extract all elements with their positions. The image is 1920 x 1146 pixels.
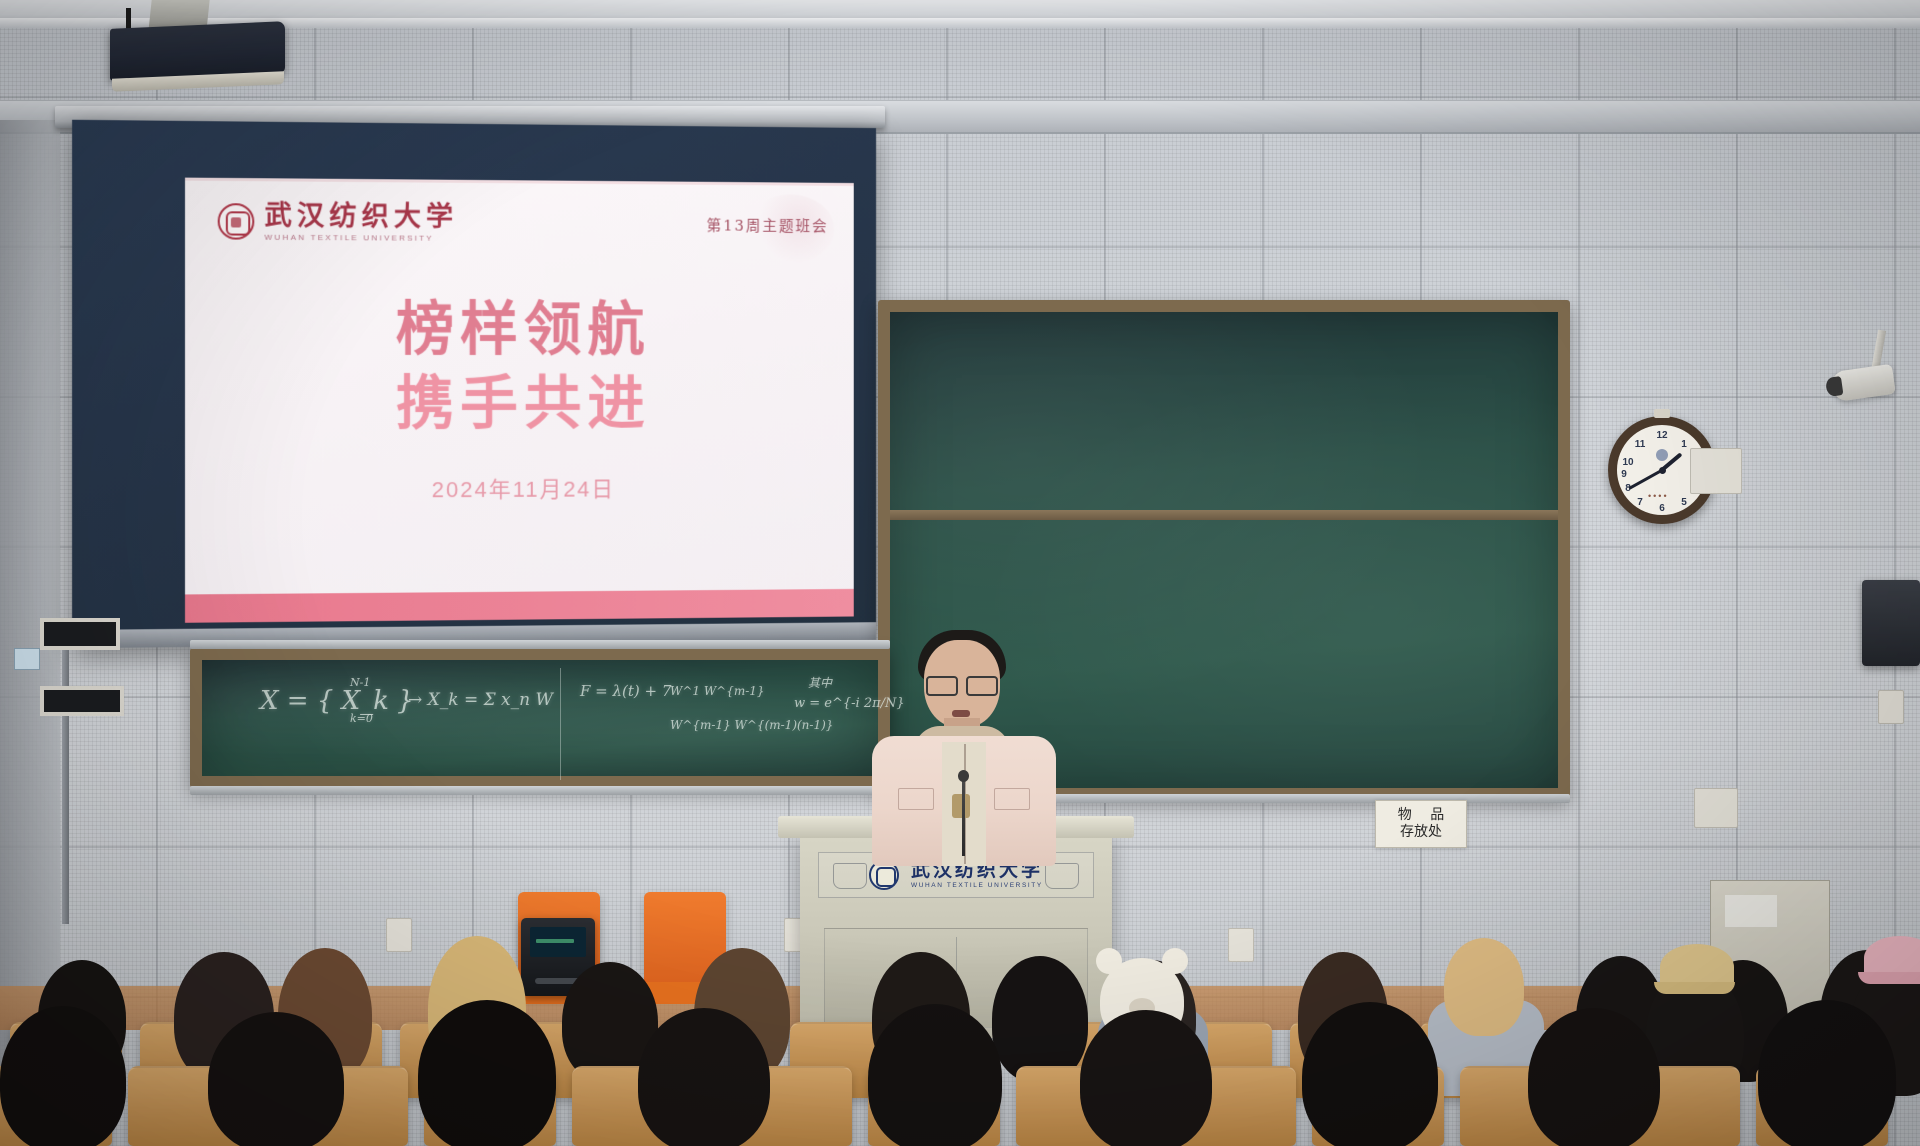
- lectern-university-en: WUHAN TEXTILE UNIVERSITY: [911, 882, 1043, 889]
- clock-center-pin: [1659, 467, 1666, 474]
- speaker-person: [866, 618, 1062, 858]
- person-hair: [1080, 1010, 1212, 1146]
- audience-person: [404, 1000, 568, 1146]
- projector: [110, 21, 285, 81]
- lecture-hall-photo: 武汉纺织大学 WUHAN TEXTILE UNIVERSITY 第13周主题班会…: [0, 0, 1920, 1146]
- audience-person: [1290, 1002, 1450, 1146]
- chalk-dust-lower: [202, 660, 878, 776]
- projection-screen: 武汉纺织大学 WUHAN TEXTILE UNIVERSITY 第13周主题班会…: [72, 120, 876, 648]
- cap-icon-pink: [1864, 936, 1920, 980]
- person-hair: [868, 1004, 1002, 1146]
- lectern-cup-icon-right: [1045, 863, 1079, 889]
- person-hair: [1302, 1002, 1438, 1146]
- wall-panel-right: [1690, 448, 1742, 494]
- university-seal-icon: [218, 203, 255, 240]
- audience-person: [196, 1012, 356, 1146]
- clock-hanger: [1654, 409, 1670, 418]
- wall-label-left: [14, 648, 40, 670]
- audience-person: [1744, 1000, 1908, 1146]
- cap-brim: [1654, 982, 1735, 994]
- glasses-icon: [926, 676, 998, 692]
- sign-line2: 存放处: [1400, 824, 1442, 842]
- chalk-ledge-lower: [190, 786, 890, 795]
- clock-num-7: 7: [1595, 497, 1685, 508]
- blackboard-lower: X = { X_k } N-1 k=0 → X_k = Σ x_n W F = …: [190, 648, 890, 788]
- ceiling-rail: [0, 18, 1920, 28]
- slide-header: 武汉纺织大学 WUHAN TEXTILE UNIVERSITY 第13周主题班会: [218, 198, 829, 248]
- slide-title: 榜样领航 携手共进: [185, 291, 854, 441]
- clock-num-11: 11: [1595, 439, 1685, 450]
- screen-support-left: [62, 624, 69, 924]
- university-name-zh: 武汉纺织大学: [264, 202, 458, 230]
- door-notice: [1725, 895, 1777, 927]
- wall-outlet-right: [1878, 690, 1904, 724]
- chalk-vertical-rule: [560, 668, 561, 780]
- speaker-pocket-right: [994, 788, 1030, 810]
- university-name-block: 武汉纺织大学 WUHAN TEXTILE UNIVERSITY: [264, 202, 458, 242]
- cap-icon-tan: [1660, 944, 1734, 990]
- presentation-slide: 武汉纺织大学 WUHAN TEXTILE UNIVERSITY 第13周主题班会…: [185, 178, 854, 623]
- wall-outlet-mid: [1228, 928, 1254, 962]
- speaker-pocket-left: [898, 788, 934, 810]
- person-hair: [0, 1006, 126, 1146]
- person-hair: [208, 1012, 344, 1146]
- audience-person: [856, 1004, 1014, 1146]
- audience-person: [626, 1008, 782, 1146]
- sign-line1: 物 品: [1391, 807, 1451, 825]
- electrical-panel-lower: [40, 686, 124, 716]
- microphone-icon: [962, 778, 965, 856]
- bear-ear-right: [1162, 948, 1188, 974]
- person-hair-blonde: [1444, 938, 1524, 1036]
- person-hair: [638, 1008, 770, 1146]
- clock-dots: ••••: [1648, 491, 1669, 501]
- wall-outlet-left: [386, 918, 412, 952]
- slide-title-line2: 携手共进: [185, 366, 854, 441]
- person-hair: [1528, 1008, 1660, 1146]
- wall-speaker: [1862, 580, 1920, 666]
- av-box-screen: [530, 927, 586, 957]
- wall-panel-right-lower: [1694, 788, 1738, 828]
- audience-person: [0, 1006, 140, 1146]
- person-hair: [1758, 1000, 1896, 1146]
- person-hair: [418, 1000, 556, 1146]
- slide-week-label: 第13周主题班会: [706, 214, 828, 236]
- speaker-mouth: [952, 710, 970, 717]
- slide-footer-bar: [185, 589, 854, 623]
- slide-top-accent: [185, 178, 854, 186]
- audience-person: [1516, 1008, 1672, 1146]
- lectern-cup-icon-left: [833, 863, 867, 889]
- clock-num-10: 10: [1583, 457, 1673, 468]
- speaker-badge: [952, 794, 970, 818]
- audience-person: [1068, 1010, 1224, 1146]
- blackboard-divider: [890, 510, 1558, 520]
- slide-title-line1: 榜样领航: [185, 291, 854, 367]
- storage-area-sign: 物 品 存放处: [1375, 800, 1467, 848]
- electrical-panel-upper: [40, 618, 120, 650]
- slide-date: 2024年11月24日: [185, 471, 854, 506]
- bear-ear-left: [1096, 948, 1122, 974]
- university-name-en: WUHAN TEXTILE UNIVERSITY: [264, 232, 458, 242]
- chalk-tray-lower: [190, 640, 890, 649]
- cap-brim: [1858, 972, 1920, 984]
